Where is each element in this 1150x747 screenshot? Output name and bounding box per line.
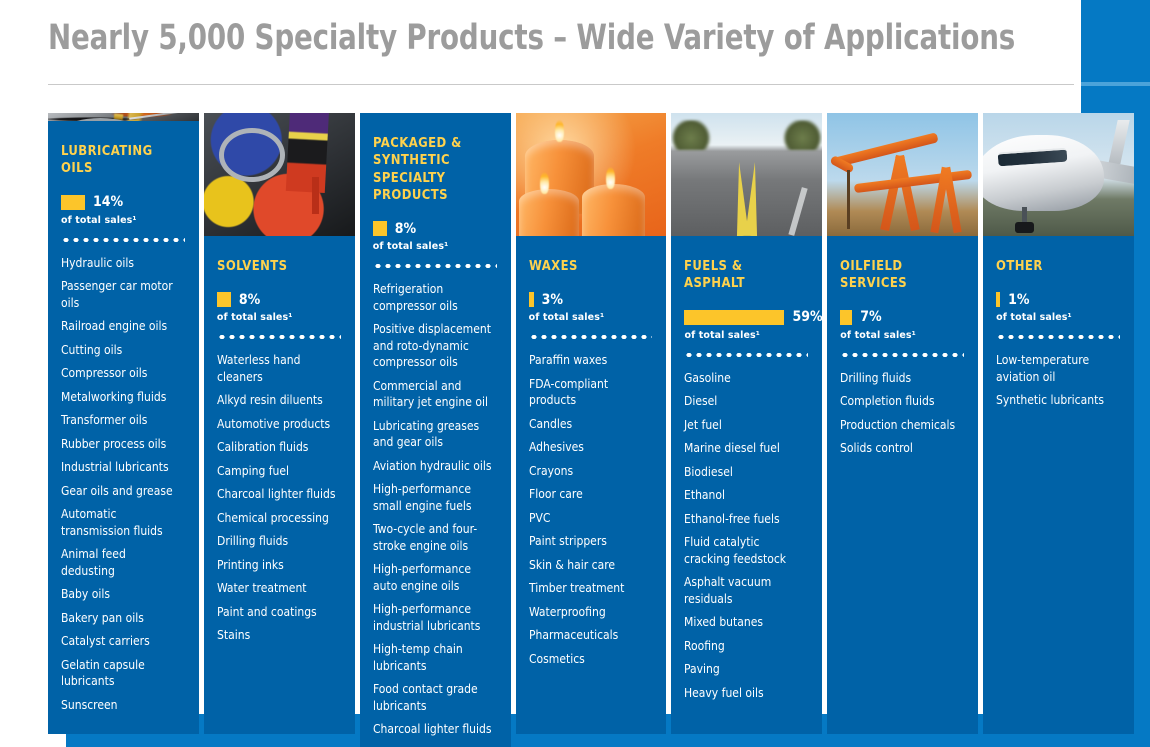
product-list: Low-temperature aviation oilSynthetic lu… — [996, 352, 1120, 416]
list-item: Floor care — [529, 486, 649, 503]
list-item: Compressor oils — [61, 365, 181, 382]
list-item: Refrigeration compressor oils — [373, 281, 493, 314]
percent-footnote: of total sales¹ — [373, 241, 497, 252]
list-item: Transformer oils — [61, 412, 181, 429]
list-item: Bakery pan oils — [61, 610, 181, 627]
list-item: Synthetic lubricants — [996, 392, 1116, 409]
list-item: Waterless hand cleaners — [217, 352, 337, 385]
list-item: Cosmetics — [529, 651, 649, 668]
list-item: Commercial and military jet engine oil — [373, 378, 493, 411]
percent-bar — [840, 310, 852, 325]
slide-root: Nearly 5,000 Specialty Products – Wide V… — [0, 0, 1150, 747]
list-item: Drilling fluids — [840, 370, 960, 387]
category-title: FUELS & ASPHALT — [684, 258, 803, 293]
percent-bar — [996, 292, 1000, 307]
percent-bar — [217, 292, 231, 307]
list-item: High-performance small engine fuels — [373, 481, 493, 514]
category-column-oilfield-services: OILFIELD SERVICES 7% of total sales¹ Dri… — [827, 113, 978, 734]
category-title: OTHER — [996, 258, 1115, 275]
list-item: Ethanol-free fuels — [684, 511, 804, 528]
percent-label: 7% — [860, 309, 881, 325]
percent-footnote: of total sales¹ — [217, 312, 341, 323]
percent-label: 3% — [542, 292, 563, 308]
category-column-fuels-asphalt: FUELS & ASPHALT 59% of total sales¹ Gaso… — [671, 113, 822, 734]
accent-bar-top-right — [1081, 0, 1150, 82]
list-item: Gelatin capsule lubricants — [61, 657, 181, 690]
list-item: Alkyd resin diluents — [217, 392, 337, 409]
list-item: Waterproofing — [529, 604, 649, 621]
list-item: Candles — [529, 416, 649, 433]
percent-footnote: of total sales¹ — [529, 312, 653, 323]
pumpjack-oilfield-photo — [827, 113, 978, 236]
paint-cans-photo — [204, 113, 355, 236]
percent-label: 59% — [792, 309, 822, 325]
list-item: Chemical processing — [217, 510, 337, 527]
category-panel-oilfield-services: OILFIELD SERVICES 7% of total sales¹ Dri… — [827, 236, 978, 734]
category-column-waxes: WAXES 3% of total sales¹ Paraffin waxesF… — [516, 113, 667, 734]
list-item: Charcoal lighter fluids — [373, 721, 493, 738]
percent-stat: 1% — [996, 292, 1120, 307]
list-item: Skin & hair care — [529, 557, 649, 574]
title-divider — [48, 84, 1074, 85]
list-item: Automatic transmission fluids — [61, 506, 181, 539]
list-item: Pharmaceuticals — [529, 627, 649, 644]
list-item: Asphalt vacuum residuals — [684, 574, 804, 607]
list-item: Railroad engine oils — [61, 318, 181, 335]
percent-bar — [373, 221, 387, 236]
percent-label: 1% — [1008, 292, 1029, 308]
category-column-other: OTHER 1% of total sales¹ Low-temperature… — [983, 113, 1134, 734]
list-item: Gasoline — [684, 370, 804, 387]
list-item: Camping fuel — [217, 463, 337, 480]
category-columns: LUBRICATING OILS 14% of total sales¹ Hyd… — [48, 113, 1134, 734]
list-item: Paint and coatings — [217, 604, 337, 621]
percent-stat: 14% — [61, 195, 185, 210]
list-item: Metalworking fluids — [61, 389, 181, 406]
category-column-lubricating-oils: LUBRICATING OILS 14% of total sales¹ Hyd… — [48, 113, 199, 734]
category-panel-other: OTHER 1% of total sales¹ Low-temperature… — [983, 236, 1134, 734]
oil-pour-engine-photo — [48, 113, 199, 121]
dotted-divider — [373, 264, 497, 268]
list-item: Positive displacement and roto-dynamic c… — [373, 321, 493, 371]
dotted-divider — [996, 335, 1120, 339]
page-title: Nearly 5,000 Specialty Products – Wide V… — [48, 18, 937, 58]
list-item: Adhesives — [529, 439, 649, 456]
category-panel-lubricating-oils: LUBRICATING OILS 14% of total sales¹ Hyd… — [48, 121, 199, 734]
percent-stat: 7% — [840, 310, 964, 325]
list-item: Baby oils — [61, 586, 181, 603]
percent-stat: 8% — [373, 221, 497, 236]
list-item: Gear oils and grease — [61, 483, 181, 500]
list-item: High-temp chain lubricants — [373, 641, 493, 674]
list-item: Timber treatment — [529, 580, 649, 597]
list-item: Crayons — [529, 463, 649, 480]
category-panel-packaged-synthetic: PACKAGED & SYNTHETIC SPECIALTY PRODUCTS … — [360, 113, 511, 747]
list-item: Charcoal lighter fluids — [217, 486, 337, 503]
list-item: Passenger car motor oils — [61, 278, 181, 311]
category-title: PACKAGED & SYNTHETIC SPECIALTY PRODUCTS — [373, 135, 492, 204]
category-title: OILFIELD SERVICES — [840, 258, 959, 293]
list-item: Drilling fluids — [217, 533, 337, 550]
product-list: Drilling fluidsCompletion fluidsProducti… — [840, 370, 964, 464]
percent-bar — [684, 310, 784, 325]
category-title: WAXES — [529, 258, 648, 275]
category-column-packaged-synthetic: PACKAGED & SYNTHETIC SPECIALTY PRODUCTS … — [360, 113, 511, 734]
dotted-divider — [684, 353, 808, 357]
percent-footnote: of total sales¹ — [996, 312, 1120, 323]
list-item: Hydraulic oils — [61, 255, 181, 272]
list-item: Low-temperature aviation oil — [996, 352, 1116, 385]
list-item: Water treatment — [217, 580, 337, 597]
list-item: Aviation hydraulic oils — [373, 458, 493, 475]
product-list: GasolineDieselJet fuelMarine diesel fuel… — [684, 370, 808, 709]
list-item: Sunscreen — [61, 697, 181, 714]
list-item: Marine diesel fuel — [684, 440, 804, 457]
percent-stat: 3% — [529, 292, 653, 307]
list-item: Lubricating greases and gear oils — [373, 418, 493, 451]
dotted-divider — [61, 238, 185, 242]
category-panel-waxes: WAXES 3% of total sales¹ Paraffin waxesF… — [516, 236, 667, 734]
list-item: Biodiesel — [684, 464, 804, 481]
list-item: Paraffin waxes — [529, 352, 649, 369]
list-item: Solids control — [840, 440, 960, 457]
percent-footnote: of total sales¹ — [840, 330, 964, 341]
candles-photo — [516, 113, 667, 236]
list-item: Printing inks — [217, 557, 337, 574]
dotted-divider — [529, 335, 653, 339]
product-list: Hydraulic oilsPassenger car motor oilsRa… — [61, 255, 185, 721]
list-item: PVC — [529, 510, 649, 527]
list-item: Two-cycle and four-stroke engine oils — [373, 521, 493, 554]
list-item: Jet fuel — [684, 417, 804, 434]
dotted-divider — [217, 335, 341, 339]
product-list: Paraffin waxesFDA-compliant productsCand… — [529, 352, 653, 674]
list-item: Cutting oils — [61, 342, 181, 359]
list-item: Fluid catalytic cracking feedstock — [684, 534, 804, 567]
percent-label: 8% — [395, 221, 416, 237]
list-item: Roofing — [684, 638, 804, 655]
list-item: Paving — [684, 661, 804, 678]
category-panel-fuels-asphalt: FUELS & ASPHALT 59% of total sales¹ Gaso… — [671, 236, 822, 734]
percent-bar — [61, 195, 85, 210]
list-item: FDA-compliant products — [529, 376, 649, 409]
list-item: Automotive products — [217, 416, 337, 433]
list-item: Stains — [217, 627, 337, 644]
highway-road-photo — [671, 113, 822, 236]
list-item: Food contact grade lubricants — [373, 681, 493, 714]
percent-footnote: of total sales¹ — [684, 330, 808, 341]
list-item: Diesel — [684, 393, 804, 410]
percent-footnote: of total sales¹ — [61, 215, 185, 226]
list-item: Catalyst carriers — [61, 633, 181, 650]
category-title: LUBRICATING OILS — [61, 143, 180, 178]
list-item: Calibration fluids — [217, 439, 337, 456]
list-item: High-performance industrial lubricants — [373, 601, 493, 634]
list-item: Mixed butanes — [684, 614, 804, 631]
list-item: Production chemicals — [840, 417, 960, 434]
product-list: Waterless hand cleanersAlkyd resin dilue… — [217, 352, 341, 651]
list-item: Paint strippers — [529, 533, 649, 550]
percent-label: 14% — [93, 194, 123, 210]
percent-label: 8% — [239, 292, 260, 308]
list-item: Ethanol — [684, 487, 804, 504]
airplane-photo — [983, 113, 1134, 236]
list-item: Heavy fuel oils — [684, 685, 804, 702]
list-item: Rubber process oils — [61, 436, 181, 453]
product-list: Refrigeration compressor oilsPositive di… — [373, 281, 497, 747]
dotted-divider — [840, 353, 964, 357]
list-item: Completion fluids — [840, 393, 960, 410]
list-item: High-performance auto engine oils — [373, 561, 493, 594]
category-panel-solvents: SOLVENTS 8% of total sales¹ Waterless ha… — [204, 236, 355, 734]
percent-stat: 8% — [217, 292, 341, 307]
list-item: Industrial lubricants — [61, 459, 181, 476]
percent-stat: 59% — [684, 310, 808, 325]
category-column-solvents: SOLVENTS 8% of total sales¹ Waterless ha… — [204, 113, 355, 734]
percent-bar — [529, 292, 534, 307]
list-item: Animal feed dedusting — [61, 546, 181, 579]
category-title: SOLVENTS — [217, 258, 336, 275]
